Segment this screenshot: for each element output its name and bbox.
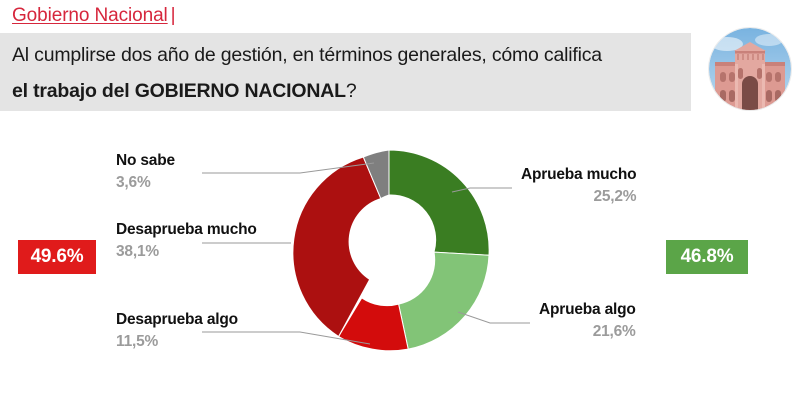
callout-desaprueba-mucho: Desaprueba mucho 38,1% xyxy=(116,221,257,262)
question-line-2: el trabajo del GOBIERNO NACIONAL? xyxy=(12,80,682,103)
question-line-1: Al cumplirse dos año de gestión, en térm… xyxy=(12,44,682,67)
slice-desaprueba-mucho xyxy=(293,157,381,337)
casa-rosada-photo xyxy=(709,28,791,110)
question-line-2-bold: el trabajo del GOBIERNO NACIONAL xyxy=(12,80,346,102)
question-line-2-tail: ? xyxy=(346,80,357,102)
slice-aprueba-mucho xyxy=(389,150,489,255)
callout-desaprueba-algo: Desaprueba algo 11,5% xyxy=(116,311,238,352)
leader-line-no-sabe xyxy=(202,163,374,173)
leader-line-aprueba-algo xyxy=(458,312,530,323)
slice-desaprueba-algo xyxy=(339,298,409,351)
callout-no-sabe: No sabe 3,6% xyxy=(116,152,175,193)
leader-line-aprueba-mucho xyxy=(452,188,512,192)
callout-desaprueba-algo-label: Desaprueba algo xyxy=(116,311,238,329)
callout-no-sabe-label: No sabe xyxy=(116,152,175,170)
callout-no-sabe-value: 3,6% xyxy=(116,170,175,193)
callout-aprueba-algo-label: Aprueba algo xyxy=(539,301,636,319)
callout-desaprueba-mucho-label: Desaprueba mucho xyxy=(116,221,257,239)
source-link[interactable]: Gobierno Nacional| xyxy=(12,5,176,27)
total-approval-badge: 46.8% xyxy=(666,240,748,274)
callout-aprueba-mucho: Aprueba mucho 25,2% xyxy=(521,166,636,207)
source-link-separator: | xyxy=(171,5,176,26)
slice-aprueba-algo xyxy=(399,252,489,349)
total-disapproval-badge: 49.6% xyxy=(18,240,96,274)
callout-aprueba-mucho-label: Aprueba mucho xyxy=(521,166,636,184)
slice-no-sabe xyxy=(363,150,389,199)
callout-aprueba-mucho-value: 25,2% xyxy=(521,184,636,207)
source-link-label: Gobierno Nacional xyxy=(12,5,168,26)
callout-aprueba-algo: Aprueba algo 21,6% xyxy=(539,301,636,342)
donut-slices xyxy=(293,150,489,351)
callout-desaprueba-mucho-value: 38,1% xyxy=(116,239,257,262)
callout-desaprueba-algo-value: 11,5% xyxy=(116,329,238,352)
callout-aprueba-algo-value: 21,6% xyxy=(539,319,636,342)
